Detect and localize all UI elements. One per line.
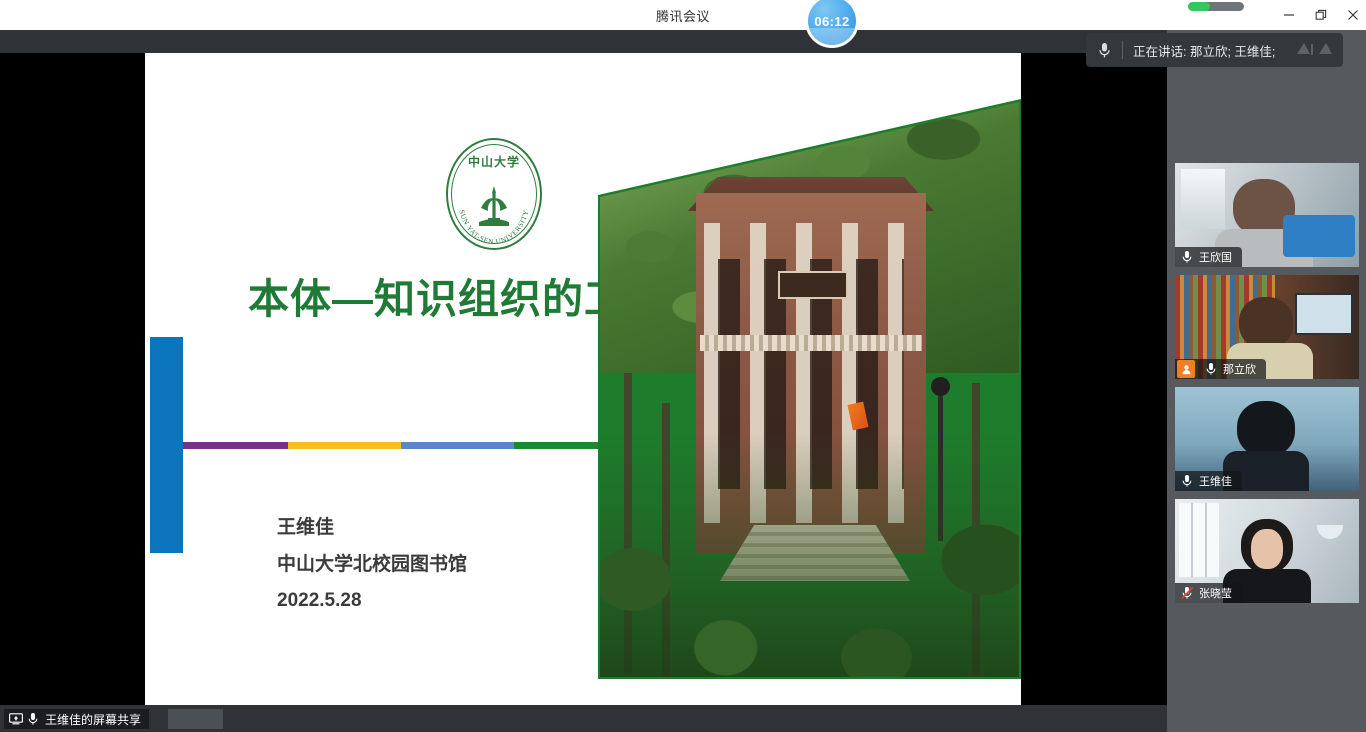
screen-share-status[interactable]: 王维佳的屏幕共享: [4, 709, 149, 729]
microphone-icon: [24, 712, 41, 726]
campus-photo: [598, 71, 1021, 705]
window-title-bar: 腾讯会议: [0, 0, 1366, 30]
participant-name-bar: 王维佳: [1175, 471, 1242, 491]
participant-sidebar[interactable]: 王欣国 那立欣: [1167, 30, 1366, 732]
screen-share-label: 王维佳的屏幕共享: [41, 711, 141, 728]
presentation-date: 2022.5.28: [277, 583, 467, 620]
active-speaker-bar[interactable]: 正在讲话: 那立欣; 王维佳;: [1086, 33, 1343, 67]
color-segment: [183, 442, 288, 449]
author-name: 王维佳: [277, 510, 467, 547]
app-title: 腾讯会议: [0, 0, 1366, 30]
participant-name: 那立欣: [1220, 361, 1260, 377]
presentation-slide: 中山大学 SUN YAT-SEN UNIVERSITY 本体—知识组织的工具: [145, 53, 1021, 705]
active-speaker-label: 正在讲话: 那立欣; 王维佳;: [1123, 41, 1295, 60]
slide-author-block: 王维佳 中山大学北校园图书馆 2022.5.28: [277, 510, 467, 620]
participant-tile[interactable]: 王欣国: [1175, 163, 1359, 267]
decorative-color-segments: [183, 442, 600, 449]
microphone-icon: [1086, 42, 1122, 59]
sun-yat-sen-university-seal-icon: 中山大学 SUN YAT-SEN UNIVERSITY: [446, 138, 542, 250]
restore-icon: [1315, 9, 1327, 21]
color-segment: [514, 442, 600, 449]
minimize-button[interactable]: [1272, 0, 1306, 30]
host-badge-icon: [1177, 360, 1195, 378]
screen-share-icon: [7, 713, 24, 725]
shared-screen-stage[interactable]: 中山大学 SUN YAT-SEN UNIVERSITY 本体—知识组织的工具: [0, 53, 1167, 705]
participant-name: 王欣国: [1196, 249, 1236, 265]
svg-text:SUN YAT-SEN UNIVERSITY: SUN YAT-SEN UNIVERSITY: [457, 208, 530, 246]
status-bar-highlight: [168, 709, 223, 729]
tencent-meeting-window: 腾讯会议 06:12: [0, 0, 1366, 732]
participant-tile[interactable]: 那立欣: [1175, 275, 1359, 379]
participant-name-bar: 那立欣: [1175, 359, 1266, 379]
author-affiliation: 中山大学北校园图书馆: [277, 547, 467, 584]
participant-name: 王维佳: [1196, 473, 1236, 489]
meeting-timer-value: 06:12: [814, 14, 849, 29]
participant-name-bar: 张晓莹: [1175, 583, 1242, 603]
participant-tile[interactable]: 王维佳: [1175, 387, 1359, 491]
participant-name: 张晓莹: [1196, 585, 1236, 601]
microphone-icon: [1178, 474, 1196, 488]
color-segment: [288, 442, 401, 449]
network-strength-indicator: [1188, 2, 1244, 11]
close-button[interactable]: [1336, 0, 1366, 30]
seal-english-name: SUN YAT-SEN UNIVERSITY: [446, 138, 542, 250]
participant-tile[interactable]: 张晓莹: [1175, 499, 1359, 603]
participant-name-bar: 王欣国: [1175, 247, 1242, 267]
microphone-icon: [1178, 250, 1196, 264]
microphone-icon: [1202, 362, 1220, 376]
meeting-timer-badge[interactable]: 06:12: [808, 0, 856, 45]
minimize-icon: [1283, 9, 1295, 21]
audio-wave-icon: [1295, 40, 1343, 60]
microphone-muted-icon: [1178, 586, 1196, 600]
close-icon: [1347, 9, 1359, 21]
decorative-vertical-bar: [150, 337, 183, 553]
restore-button[interactable]: [1304, 0, 1338, 30]
color-segment: [401, 442, 514, 449]
